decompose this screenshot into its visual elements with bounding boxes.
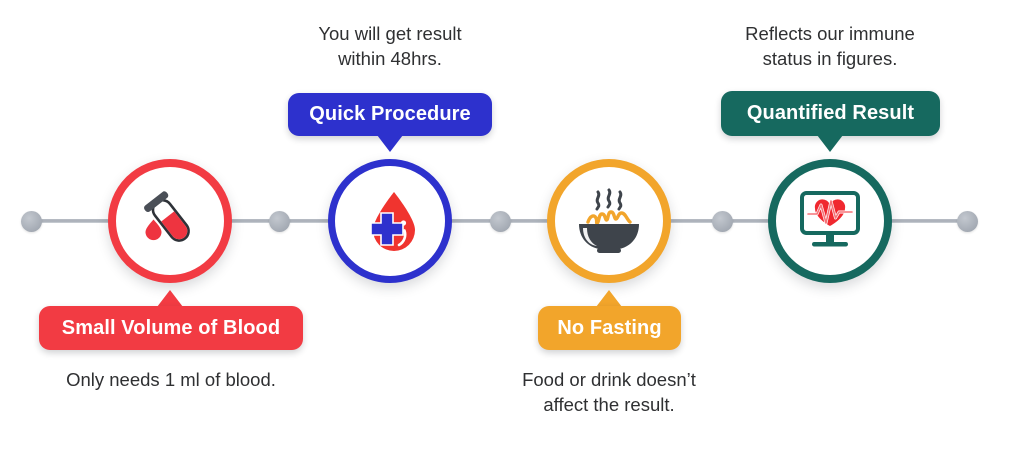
badge-label: No Fasting (557, 317, 661, 340)
step-circle-no-fasting[interactable] (547, 159, 671, 283)
blood-test-tube-icon (135, 186, 205, 256)
badge-quantified-result[interactable]: Quantified Result (721, 91, 940, 136)
step-circle-quantified-result[interactable] (768, 159, 892, 283)
caption-quick-procedure: You will get result within 48hrs. (290, 21, 490, 71)
caption-line-2: status in figures. (725, 46, 935, 71)
caption-line-1: Food or drink doesn’t (499, 367, 719, 392)
badge-arrow-quick-procedure (377, 135, 403, 152)
rail-dot-2 (269, 211, 290, 232)
badge-label: Small Volume of Blood (62, 317, 280, 340)
caption-quantified-result: Reflects our immune status in figures. (725, 21, 935, 71)
badge-no-fasting[interactable]: No Fasting (538, 306, 681, 350)
caption-small-volume-of-blood: Only needs 1 ml of blood. (30, 367, 312, 392)
badge-label: Quantified Result (747, 102, 914, 125)
caption-line-1: You will get result (290, 21, 490, 46)
rail-dot-3 (490, 211, 511, 232)
badge-label: Quick Procedure (309, 103, 471, 126)
infographic-root: Small Volume of Blood Only needs 1 ml of… (0, 0, 1020, 452)
blood-drop-medical-cross-icon (354, 185, 426, 257)
badge-small-volume-of-blood[interactable]: Small Volume of Blood (39, 306, 303, 350)
badge-arrow-no-fasting (596, 290, 622, 307)
badge-quick-procedure[interactable]: Quick Procedure (288, 93, 492, 136)
caption-no-fasting: Food or drink doesn’t affect the result. (499, 367, 719, 417)
badge-arrow-small-volume-of-blood (157, 290, 183, 307)
step-circle-small-volume-of-blood[interactable] (108, 159, 232, 283)
caption-text: Only needs 1 ml of blood. (66, 369, 276, 390)
caption-line-2: affect the result. (499, 392, 719, 417)
rail-dot-5 (957, 211, 978, 232)
caption-line-2: within 48hrs. (290, 46, 490, 71)
rail-dot-1 (21, 211, 42, 232)
monitor-heartbeat-icon (793, 188, 867, 254)
badge-arrow-quantified-result (817, 135, 843, 152)
step-circle-quick-procedure[interactable] (328, 159, 452, 283)
steaming-noodle-bowl-icon (571, 186, 647, 256)
rail-dot-4 (712, 211, 733, 232)
caption-line-1: Reflects our immune (725, 21, 935, 46)
